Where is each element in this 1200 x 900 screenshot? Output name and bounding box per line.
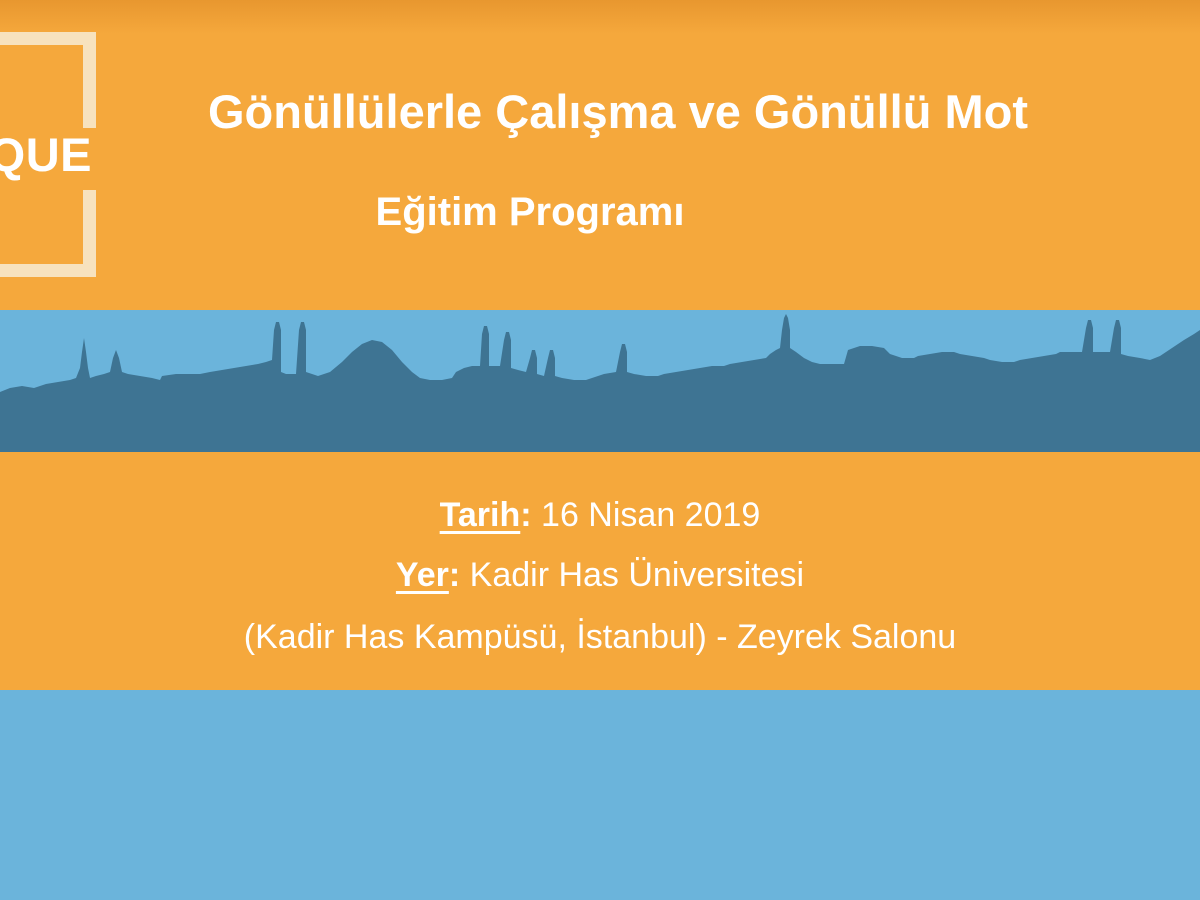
event-poster: QUE Gönüllülerle Çalışma ve Gönüllü Mot … — [0, 0, 1200, 900]
istanbul-skyline-icon — [0, 310, 1200, 452]
detail-label-venue: Yer: — [396, 556, 460, 594]
page-title: Gönüllülerle Çalışma ve Gönüllü Mot — [208, 86, 1200, 138]
header-band: QUE Gönüllülerle Çalışma ve Gönüllü Mot … — [0, 0, 1200, 310]
detail-row-venue: Yer: Kadir Has Üniversitesi — [0, 558, 1200, 592]
page-subtitle: Eğitim Programı — [0, 190, 1200, 234]
logo-wordmark: QUE — [0, 32, 96, 277]
logo-wordmark-text: QUE — [0, 131, 92, 178]
headline-container: Gönüllülerle Çalışma ve Gönüllü Mot — [208, 86, 1200, 138]
detail-label-date: Tarih: — [440, 496, 532, 534]
detail-row-date: Tarih: 16 Nisan 2019 — [0, 498, 1200, 532]
detail-value-date: 16 Nisan 2019 — [541, 496, 760, 534]
skyline-band — [0, 310, 1200, 452]
footer-band — [0, 690, 1200, 900]
detail-value-venue-address: (Kadir Has Kampüsü, İstanbul) - Zeyrek S… — [244, 618, 956, 656]
detail-row-venue-address: (Kadir Has Kampüsü, İstanbul) - Zeyrek S… — [0, 620, 1200, 654]
detail-value-venue: Kadir Has Üniversitesi — [470, 556, 804, 594]
logo[interactable]: QUE — [0, 32, 96, 277]
